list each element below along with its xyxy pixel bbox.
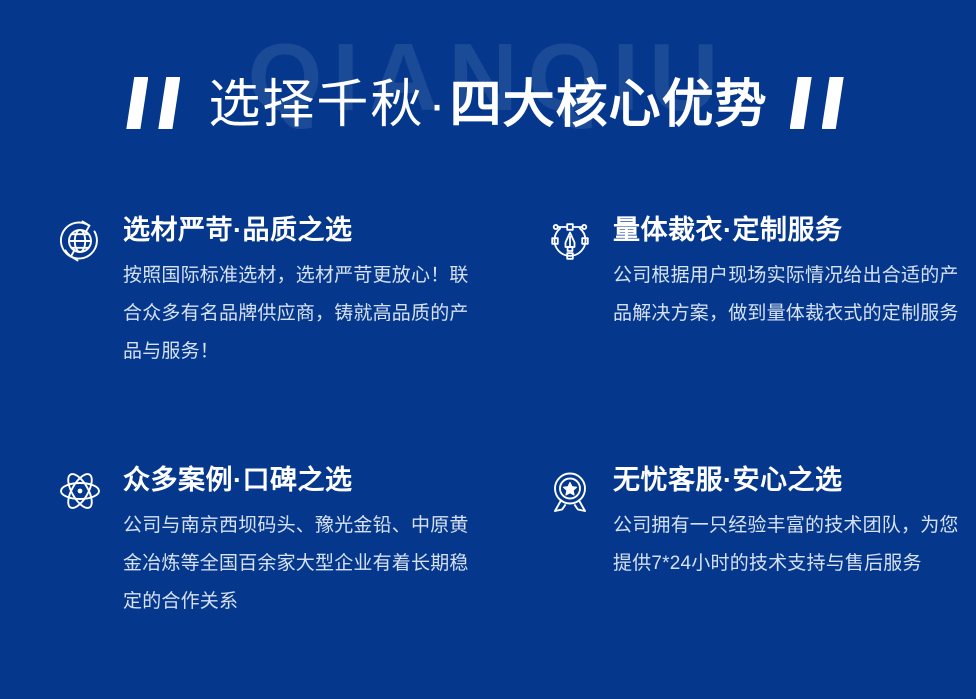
page-title-separator: · bbox=[424, 76, 449, 134]
quote-close-icon bbox=[782, 77, 856, 133]
page-title: 选择千秋·四大核心优势 bbox=[0, 74, 976, 136]
feature-card-customer-support: 无忧客服·安心之选 公司拥有一只经验丰富的技术团队，为您提供7*24小时的技术支… bbox=[488, 463, 976, 621]
feature-description: 公司拥有一只经验丰富的技术团队，为您提供7*24小时的技术支持与售后服务 bbox=[613, 507, 973, 583]
feature-title: 无忧客服·安心之选 bbox=[613, 463, 976, 497]
feature-description: 公司根据用户现场实际情况给出合适的产品解决方案，做到量体裁衣式的定制服务 bbox=[613, 257, 973, 333]
feature-description: 按照国际标准选材，选材严苛更放心！联合众多有名品牌供应商，铸就高品质的产品与服务… bbox=[123, 257, 483, 371]
feature-title: 选材严苛·品质之选 bbox=[123, 213, 488, 247]
features-row-2: 众多案例·口碑之选 公司与南京西坝码头、豫光金铅、中原黄金冶炼等全国百余家大型企… bbox=[0, 371, 976, 621]
feature-body: 选材严苛·品质之选 按照国际标准选材，选材严苛更放心！联合众多有名品牌供应商，铸… bbox=[104, 213, 488, 371]
atom-icon bbox=[56, 467, 104, 515]
globe-refresh-icon bbox=[56, 217, 104, 265]
page-title-light: 选择千秋 bbox=[208, 76, 424, 134]
features-row-1: 选材严苛·品质之选 按照国际标准选材，选材严苛更放心！联合众多有名品牌供应商，铸… bbox=[0, 185, 976, 371]
medal-star-icon bbox=[546, 467, 594, 515]
feature-body: 众多案例·口碑之选 公司与南京西坝码头、豫光金铅、中原黄金冶炼等全国百余家大型企… bbox=[104, 463, 488, 621]
page-title-bold: 四大核心优势 bbox=[450, 76, 768, 134]
quote-open-icon bbox=[120, 77, 194, 133]
features-section: 选材严苛·品质之选 按照国际标准选材，选材严苛更放心！联合众多有名品牌供应商，铸… bbox=[0, 185, 976, 621]
pen-bezier-icon bbox=[546, 217, 594, 265]
page-title-text: 选择千秋·四大核心优势 bbox=[194, 74, 781, 136]
feature-body: 无忧客服·安心之选 公司拥有一只经验丰富的技术团队，为您提供7*24小时的技术支… bbox=[594, 463, 976, 583]
feature-title: 众多案例·口碑之选 bbox=[123, 463, 488, 497]
feature-description: 公司与南京西坝码头、豫光金铅、中原黄金冶炼等全国百余家大型企业有着长期稳定的合作… bbox=[123, 507, 483, 621]
feature-card-case-studies: 众多案例·口碑之选 公司与南京西坝码头、豫光金铅、中原黄金冶炼等全国百余家大型企… bbox=[0, 463, 488, 621]
feature-title: 量体裁衣·定制服务 bbox=[613, 213, 976, 247]
feature-card-material-selection: 选材严苛·品质之选 按照国际标准选材，选材严苛更放心！联合众多有名品牌供应商，铸… bbox=[0, 213, 488, 371]
feature-body: 量体裁衣·定制服务 公司根据用户现场实际情况给出合适的产品解决方案，做到量体裁衣… bbox=[594, 213, 976, 333]
page-header: QIANQIU 选择千秋·四大核心优势 bbox=[0, 0, 976, 185]
feature-card-custom-service: 量体裁衣·定制服务 公司根据用户现场实际情况给出合适的产品解决方案，做到量体裁衣… bbox=[488, 213, 976, 371]
